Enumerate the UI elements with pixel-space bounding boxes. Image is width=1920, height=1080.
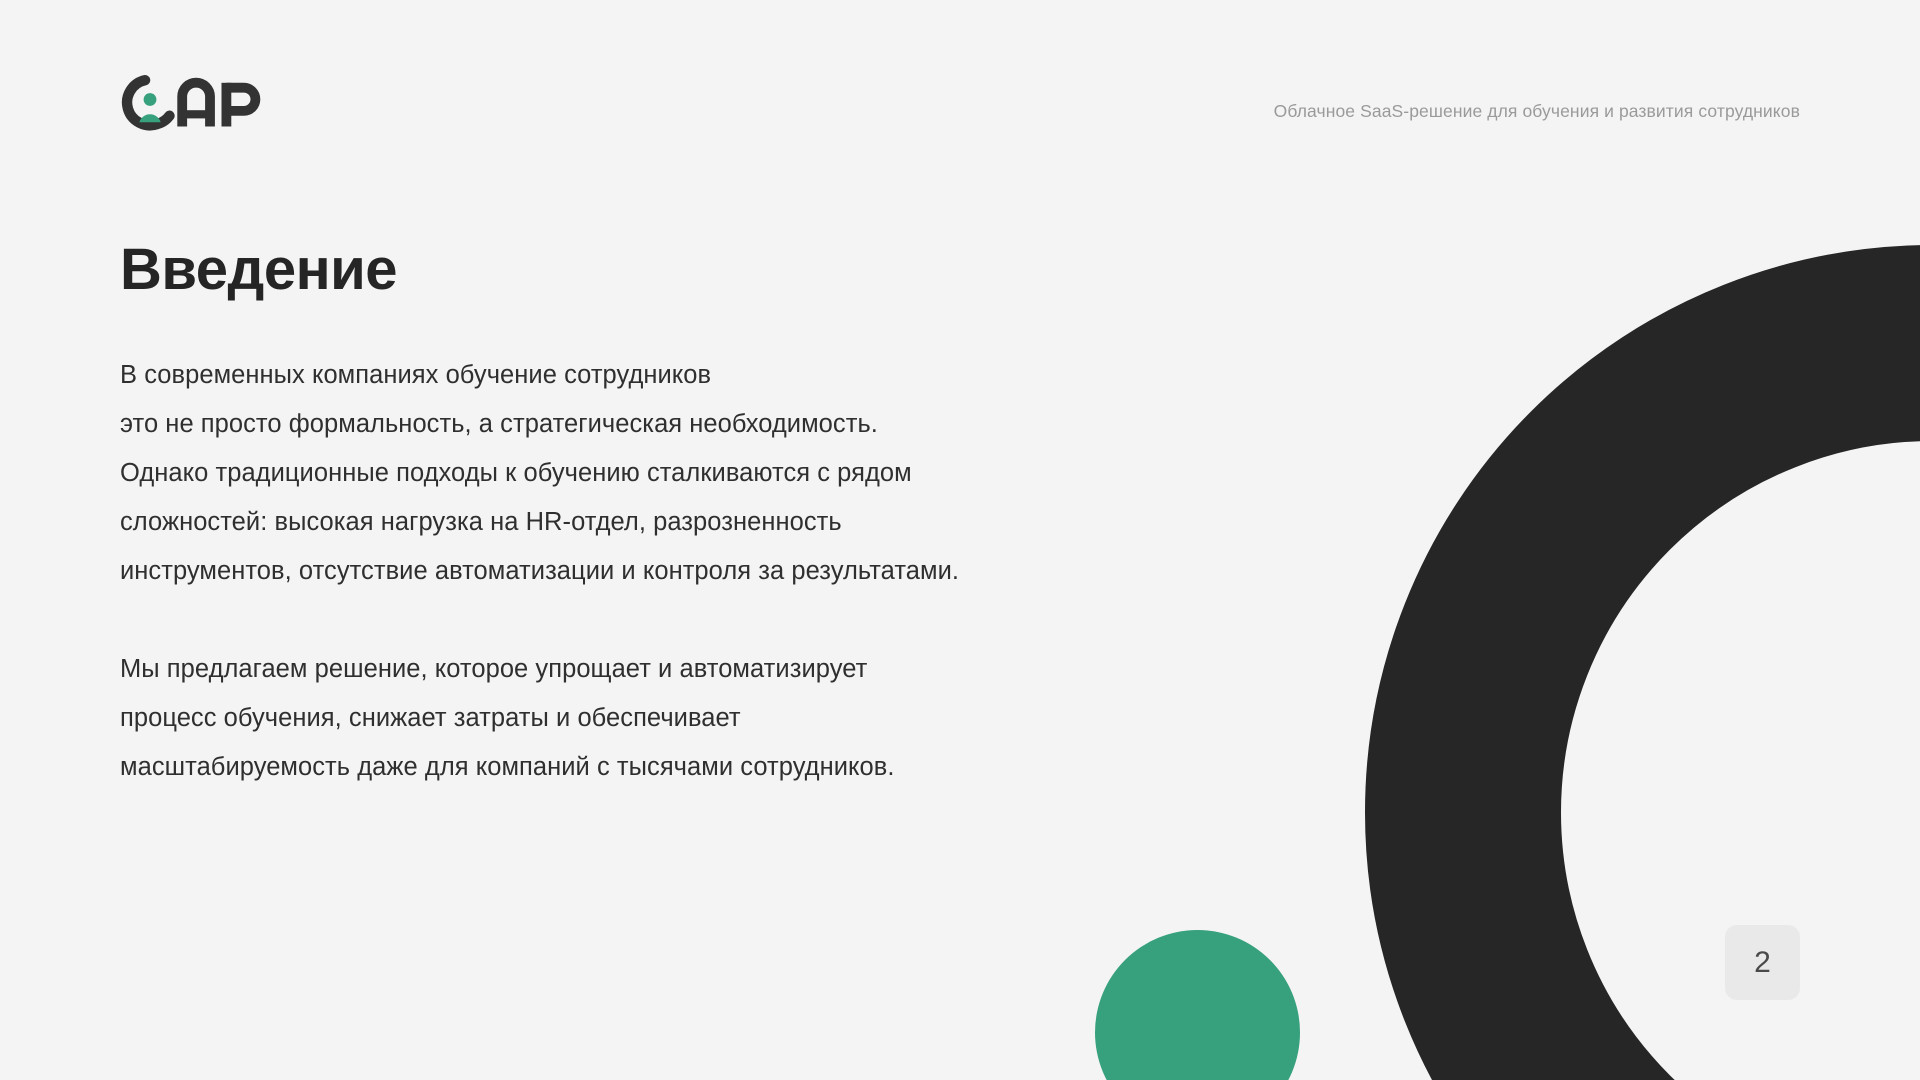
paragraph-line: Мы предлагаем решение, которое упрощает … [120, 645, 1350, 694]
green-circle-shape [1095, 930, 1300, 1080]
header-tagline: Облачное SaaS-решение для обучения и раз… [1274, 101, 1800, 122]
paragraph-line: сложностей: высокая нагрузка на HR-отдел… [120, 498, 1350, 547]
paragraph-line: масштабируемость даже для компаний с тыс… [120, 743, 1350, 792]
page-title: Введение [120, 240, 1350, 301]
dark-ring-shape [1365, 245, 1920, 1080]
slide-canvas: Облачное SaaS-решение для обучения и раз… [0, 0, 1920, 1080]
logo-person-mark [139, 93, 160, 122]
cap-logo[interactable] [120, 75, 268, 131]
paragraph-line: это не просто формальность, а стратегиче… [120, 400, 1350, 449]
paragraph-line: В современных компаниях обучение сотрудн… [120, 351, 1350, 400]
paragraph-line: Однако традиционные подходы к обучению с… [120, 449, 1350, 498]
page-number-badge: 2 [1725, 925, 1800, 1000]
slide-content: Введение В современных компаниях обучени… [120, 240, 1350, 792]
paragraph-line: процесс обучения, снижает затраты и обес… [120, 694, 1350, 743]
paragraph-2: Мы предлагаем решение, которое упрощает … [120, 645, 1350, 792]
slide-header: Облачное SaaS-решение для обучения и раз… [0, 0, 1920, 175]
paragraph-1: В современных компаниях обучение сотрудн… [120, 351, 1350, 596]
logo-letter-a [182, 83, 210, 127]
logo-letter-p [222, 83, 256, 127]
paragraph-line: инструментов, отсутствие автоматизации и… [120, 547, 1350, 596]
